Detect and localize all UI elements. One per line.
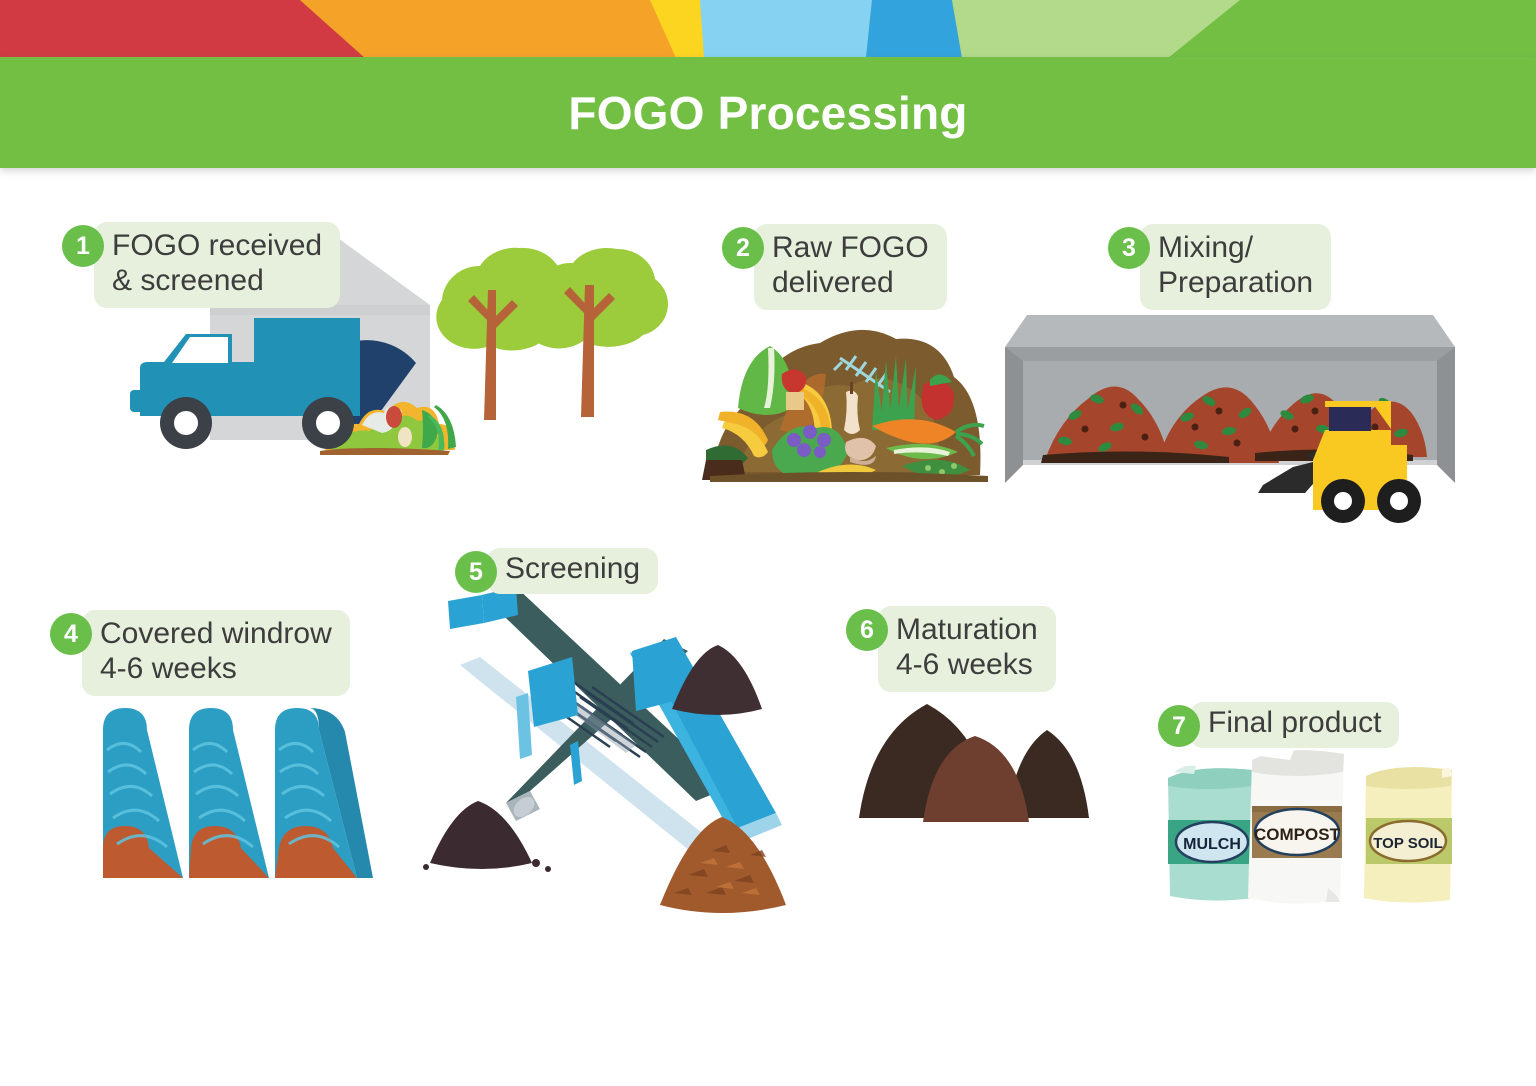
windrow-1 [103, 708, 183, 878]
step-6[interactable]: 6 Maturation 4-6 weeks [846, 606, 1056, 692]
step-1-badge: 1 [62, 225, 104, 267]
step-2-badge: 2 [722, 227, 764, 269]
step-3[interactable]: 3 Mixing/ Preparation [1108, 224, 1331, 310]
step-5-badge: 5 [455, 551, 497, 593]
step-2-label: Raw FOGO delivered [754, 224, 947, 310]
page-title: FOGO Processing [0, 57, 1536, 168]
step-6-badge: 6 [846, 609, 888, 651]
covered-windrows-illustration [95, 700, 395, 885]
step-5[interactable]: 5 Screening [455, 548, 658, 594]
step-2[interactable]: 2 Raw FOGO delivered [722, 224, 947, 310]
mulch-bag-label: MULCH [1183, 836, 1241, 853]
step-4-label: Covered windrow 4-6 weeks [82, 610, 350, 696]
step-3-label: Mixing/ Preparation [1140, 224, 1331, 310]
raw-fogo-pile-illustration [690, 300, 1010, 490]
topsoil-bag-label: TOP SOIL [1373, 835, 1442, 852]
step-5-label: Screening [487, 548, 658, 594]
step-4-badge: 4 [50, 613, 92, 655]
compost-bag: COMPOST [1248, 749, 1344, 904]
step-7[interactable]: 7 Final product [1158, 702, 1399, 748]
compost-bag-label: COMPOST [1254, 825, 1341, 844]
step-4[interactable]: 4 Covered windrow 4-6 weeks [50, 610, 350, 696]
step-7-badge: 7 [1158, 705, 1200, 747]
step-6-label: Maturation 4-6 weeks [878, 606, 1056, 692]
step-1-label: FOGO received & screened [94, 222, 340, 308]
header-band: FOGO Processing [0, 57, 1536, 168]
mixing-shed-illustration [1005, 305, 1455, 530]
screening-machine-illustration [420, 575, 880, 915]
maturation-piles-illustration [855, 700, 1095, 825]
top-color-stripe [0, 0, 1536, 58]
product-bags-illustration: MULCH TOP SOIL COMPOST [1160, 748, 1460, 903]
windrow-2 [189, 708, 269, 878]
step-3-badge: 3 [1108, 227, 1150, 269]
step-7-label: Final product [1190, 702, 1399, 748]
mulch-bag: MULCH [1168, 766, 1254, 901]
step-1[interactable]: 1 FOGO received & screened [62, 222, 340, 308]
infographic-page: FOGO Processing [0, 0, 1536, 1086]
topsoil-bag: TOP SOIL [1364, 767, 1452, 902]
